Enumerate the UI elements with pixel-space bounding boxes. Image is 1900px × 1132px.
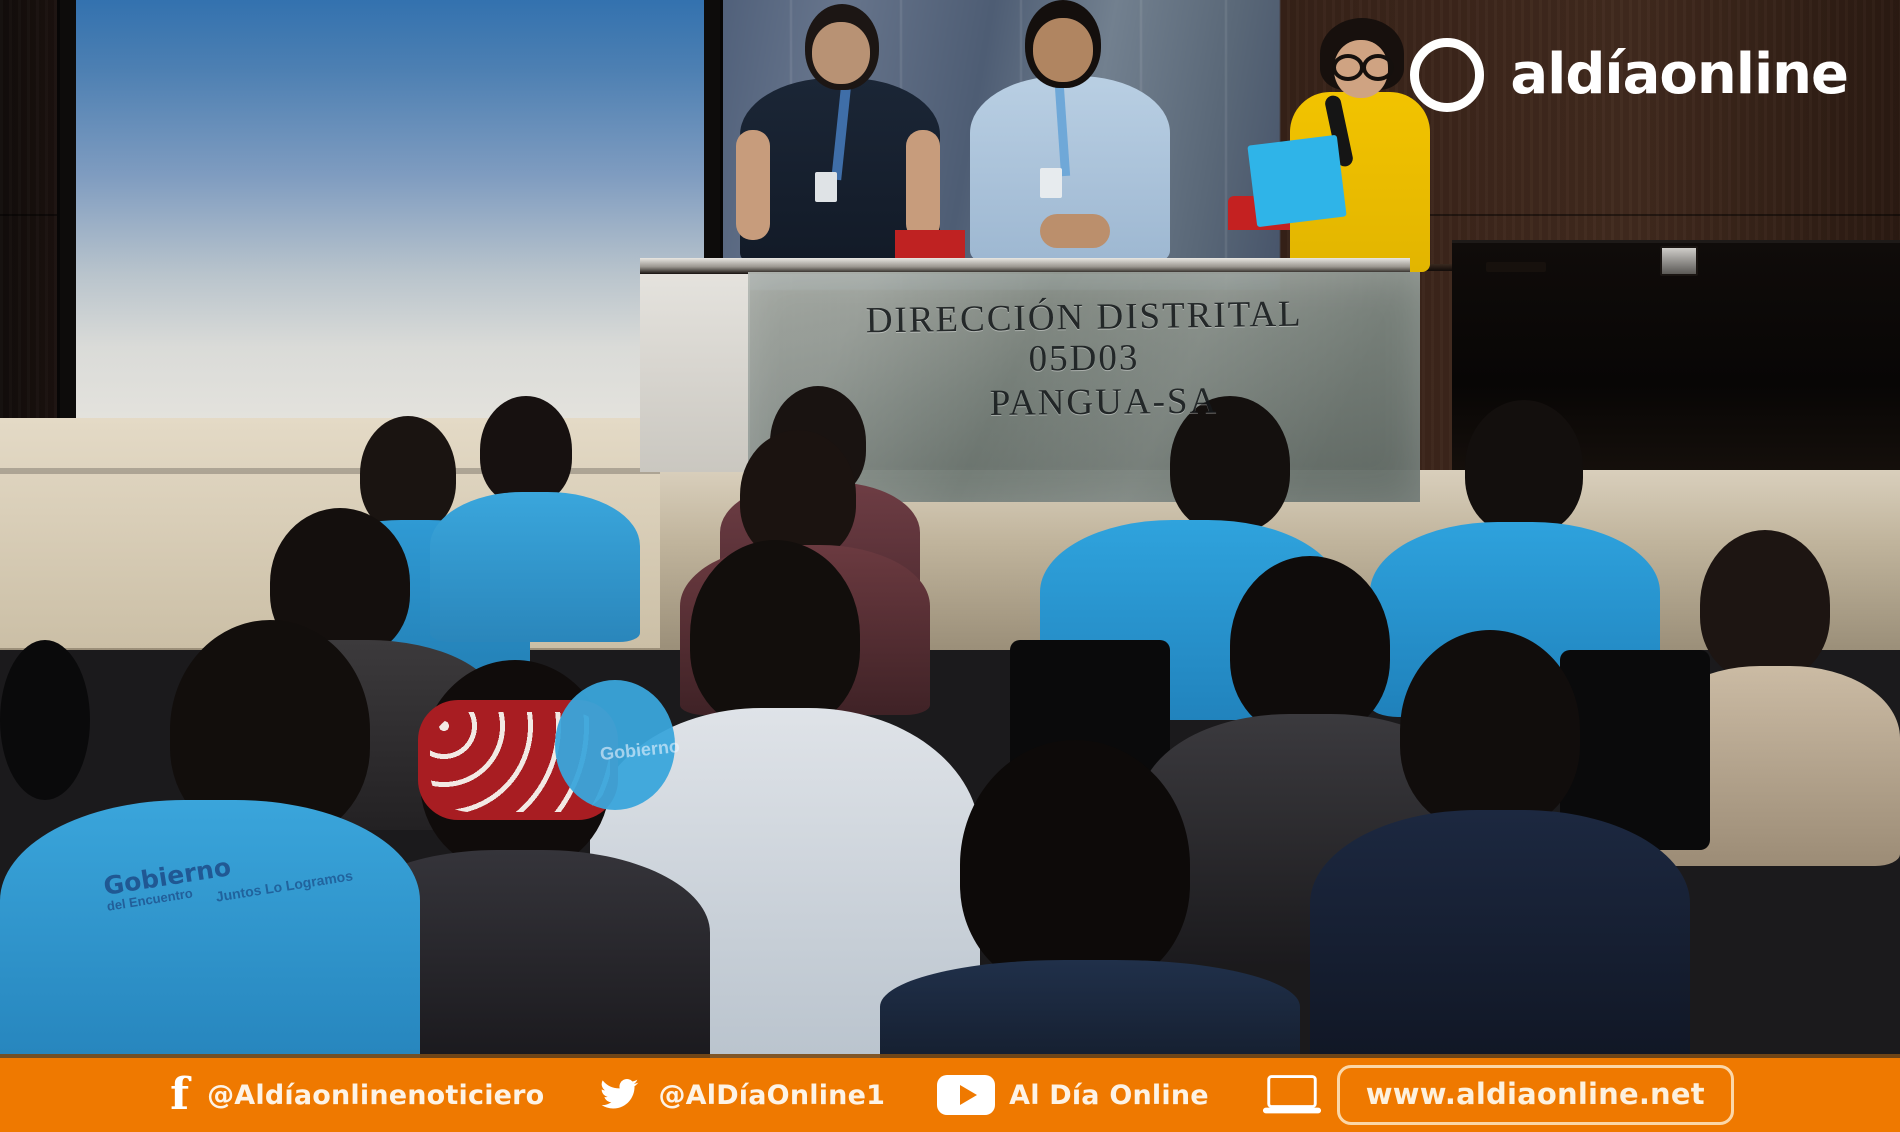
projector-screen-frame <box>60 0 720 456</box>
twitter-bird-icon <box>596 1075 644 1115</box>
facebook-item[interactable]: f @Aldíaonlinenoticiero <box>166 1075 544 1115</box>
sign-line-2: 05D03 <box>748 334 1420 385</box>
audience-shoulders <box>430 492 640 642</box>
youtube-item[interactable]: Al Día Online <box>937 1075 1209 1115</box>
ring-circle-icon <box>1410 38 1484 112</box>
speaker-left-arm <box>736 130 770 240</box>
screenshot-root: DIRECCIÓN DISTRITAL 05D03 PANGUA-SA <box>0 0 1900 1132</box>
audience-head <box>1230 556 1390 736</box>
audience-head <box>360 416 456 532</box>
audience-shoulders <box>880 960 1300 1058</box>
facebook-icon: f <box>166 1075 193 1115</box>
news-photo: DIRECCIÓN DISTRITAL 05D03 PANGUA-SA <box>0 0 1900 1058</box>
projector-screen <box>76 0 704 438</box>
youtube-handle: Al Día Online <box>1009 1080 1209 1111</box>
audience-head <box>690 540 860 730</box>
sign-line-1: DIRECCIÓN DISTRITAL <box>748 272 1420 343</box>
id-badge-icon <box>1040 168 1062 198</box>
website-item[interactable]: www.aldiaonline.net <box>1261 1065 1734 1125</box>
audience-head <box>740 430 856 560</box>
sign-line-3: PANGUA-SA <box>748 377 1420 428</box>
audience-head <box>480 396 572 504</box>
audience-head <box>1700 530 1830 680</box>
eyeglasses-icon <box>1332 54 1364 81</box>
speaker-center-hands <box>1040 214 1110 248</box>
social-footer-bar: f @Aldíaonlinenoticiero @AlDíaOnline1 Al… <box>0 1058 1900 1132</box>
speaker-center-face <box>1033 18 1093 82</box>
wall-mounted-device-icon <box>1660 246 1698 276</box>
speaker-left-face <box>812 22 870 84</box>
brand-logo[interactable]: aldíaonline <box>1410 38 1848 112</box>
youtube-play-icon <box>937 1075 995 1115</box>
audience-head <box>1400 630 1580 830</box>
audience-shoulders <box>0 800 420 1058</box>
speaker-left-arm <box>906 130 940 240</box>
audience-head <box>1465 400 1583 534</box>
audience-shoulders <box>1310 810 1690 1058</box>
website-url-pill[interactable]: www.aldiaonline.net <box>1337 1065 1734 1125</box>
head-table-side <box>640 262 750 472</box>
eyeglasses-icon <box>1362 54 1394 81</box>
wall-bracket-icon <box>1486 262 1546 272</box>
website-url: www.aldiaonline.net <box>1366 1077 1705 1111</box>
brand-logo-text: aldíaonline <box>1510 47 1848 103</box>
blue-folder <box>1247 135 1346 227</box>
twitter-handle: @AlDíaOnline1 <box>658 1080 885 1111</box>
audience-head <box>960 740 1190 990</box>
laptop-icon <box>1261 1073 1323 1117</box>
chair <box>0 640 90 800</box>
twitter-item[interactable]: @AlDíaOnline1 <box>596 1075 885 1115</box>
id-badge-icon <box>815 172 837 202</box>
facebook-handle: @Aldíaonlinenoticiero <box>207 1080 544 1111</box>
